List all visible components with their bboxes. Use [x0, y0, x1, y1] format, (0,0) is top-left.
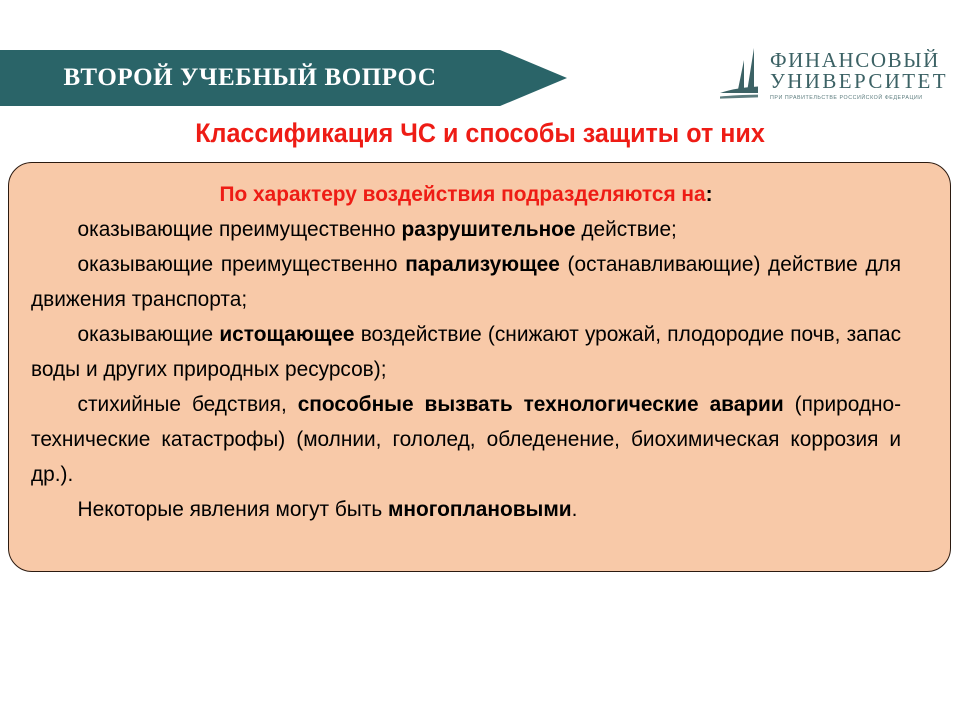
content-paragraph: оказывающие преимущественно парализующее… — [31, 247, 901, 317]
body-text: . — [572, 497, 578, 521]
emphasis-text: парализующее — [405, 252, 560, 276]
content-paragraph: стихийные бедствия, способные вызвать те… — [31, 387, 901, 492]
logo-line-2: УНИВЕРСИТЕТ — [770, 71, 948, 92]
slide-root: { "header": { "banner_label": "ВТОРОЙ УЧ… — [0, 0, 960, 720]
university-logo: ФИНАНСОВЫЙ УНИВЕРСИТЕТ ПРИ ПРАВИТЕЛЬСТВЕ… — [720, 46, 948, 108]
content-paragraph: Некоторые явления могут быть многопланов… — [31, 492, 901, 527]
body-text: оказывающие — [78, 322, 220, 346]
logo-text-block: ФИНАНСОВЫЙ УНИВЕРСИТЕТ ПРИ ПРАВИТЕЛЬСТВЕ… — [770, 46, 948, 102]
section-banner: ВТОРОЙ УЧЕБНЫЙ ВОПРОС — [0, 50, 567, 106]
emphasis-text: многоплановыми — [388, 497, 572, 521]
logo-subtitle: ПРИ ПРАВИТЕЛЬСТВЕ РОССИЙСКОЙ ФЕДЕРАЦИИ — [770, 94, 952, 102]
body-text: оказывающие преимущественно — [78, 252, 406, 276]
emphasis-text: истощающее — [219, 322, 354, 346]
content-paragraph: оказывающие истощающее воздействие (сниж… — [31, 317, 901, 387]
paragraph-list: оказывающие преимущественно разрушительн… — [31, 212, 928, 527]
finuniversity-sail-emblem-icon — [720, 46, 764, 106]
banner-label: ВТОРОЙ УЧЕБНЫЙ ВОПРОС — [0, 50, 500, 106]
page-title: Классификация ЧС и способы защиты от них — [34, 118, 927, 149]
emphasis-text: разрушительное — [401, 217, 575, 241]
content-paragraph: оказывающие преимущественно разрушительн… — [31, 212, 901, 247]
content-panel: По характеру воздействия подразделяются … — [8, 162, 951, 572]
lead-heading: По характеру воздействия подразделяются … — [31, 177, 901, 212]
lead-heading-colon: : — [706, 182, 713, 206]
body-text: Некоторые явления могут быть — [78, 497, 388, 521]
lead-heading-text: По характеру воздействия подразделяются … — [219, 182, 705, 206]
body-text: оказывающие преимущественно — [78, 217, 402, 241]
logo-line-1: ФИНАНСОВЫЙ — [770, 50, 948, 71]
body-text: действие; — [576, 217, 677, 241]
emphasis-text: способные вызвать технологические аварии — [298, 392, 784, 416]
body-text: стихийные бедствия, — [78, 392, 298, 416]
